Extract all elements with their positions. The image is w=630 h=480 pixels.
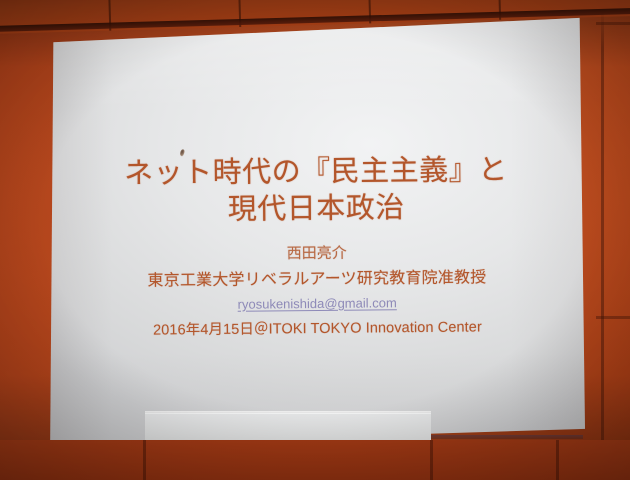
slide-title-line-2: 現代日本政治 xyxy=(228,192,405,226)
screen-bottom-trim-right xyxy=(431,435,583,439)
slide-title: ネット時代の『民主主義』と 現代日本政治 xyxy=(47,151,585,229)
slide-email-link[interactable]: ryosukenishida@gmail.com xyxy=(238,293,397,314)
slide-title-line-1: ネット時代の『民主主義』と xyxy=(124,154,508,190)
lower-wall-seam-2 xyxy=(430,440,433,480)
projector-room-photo: ネット時代の『民主主義』と 現代日本政治 西田亮介 東京工業大学リベラルアーツ研… xyxy=(0,0,630,480)
presentation-slide: ネット時代の『民主主義』と 現代日本政治 西田亮介 東京工業大学リベラルアーツ研… xyxy=(46,11,587,450)
slide-author-affiliation: 東京工業大学リベラルアーツ研究教育院准教授 xyxy=(48,265,585,293)
wall-seam-right xyxy=(601,10,604,480)
lower-wall-band xyxy=(0,440,630,480)
screen-surface: ネット時代の『民主主義』と 現代日本政治 西田亮介 東京工業大学リベラルアーツ研… xyxy=(48,14,585,448)
slide-event-info: 2016年4月15日＠ITOKI TOKYO Innovation Center xyxy=(49,317,586,344)
slide-author-name: 西田亮介 xyxy=(48,240,585,268)
projection-screen: ネット時代の『民主主義』と 現代日本政治 西田亮介 東京工業大学リベラルアーツ研… xyxy=(48,14,585,448)
wall-seam-right-upper xyxy=(596,22,630,25)
lower-wall-seam-1 xyxy=(143,440,146,480)
lower-wall-seam-3 xyxy=(556,440,559,480)
wall-seam-right-lower xyxy=(596,316,630,319)
